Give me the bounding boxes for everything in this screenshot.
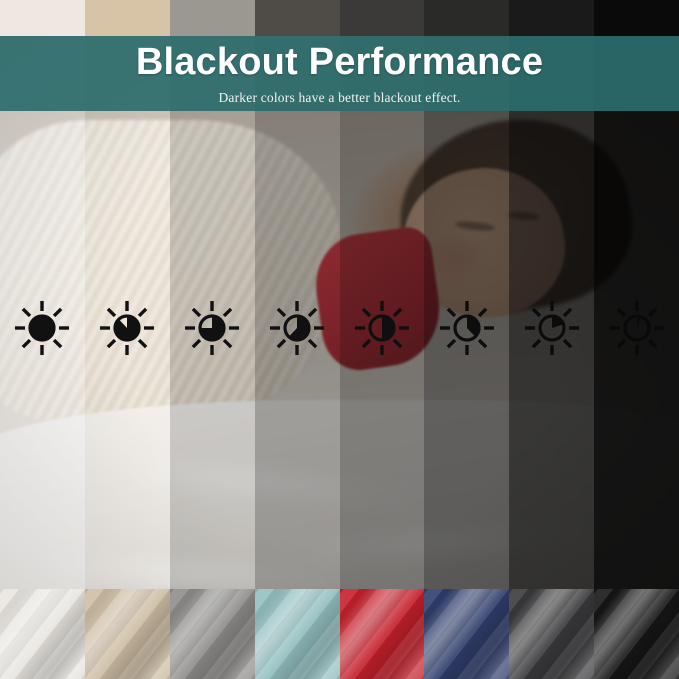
top-cap-black <box>594 0 679 36</box>
fabric-sheen <box>0 589 85 679</box>
fabric-sheen <box>594 589 679 679</box>
page-title: Blackout Performance <box>136 43 543 81</box>
top-cap-near-black <box>509 0 594 36</box>
brightness-icon-38 <box>424 288 509 368</box>
fabric-sheen <box>340 589 425 679</box>
brightness-icon-100 <box>0 288 85 368</box>
swatch-grey[interactable] <box>170 589 255 679</box>
swatch-navy[interactable] <box>424 589 509 679</box>
brightness-glyph <box>176 292 248 364</box>
brightness-glyph <box>431 292 503 364</box>
brightness-glyph <box>516 292 588 364</box>
swatch-dark-grey[interactable] <box>509 589 594 679</box>
top-cap-deep-grey <box>424 0 509 36</box>
top-cap-charcoal <box>255 0 340 36</box>
fabric-sheen <box>424 589 509 679</box>
brightness-glyph <box>346 292 418 364</box>
fabric-sheen <box>170 589 255 679</box>
fabric-sheen <box>255 589 340 679</box>
page-subtitle: Darker colors have a better blackout eff… <box>218 90 460 106</box>
swatch-white[interactable] <box>0 589 85 679</box>
brightness-glyph <box>91 292 163 364</box>
brightness-icon-75 <box>170 288 255 368</box>
brightness-icon-row <box>0 288 679 368</box>
brightness-glyph <box>601 292 673 364</box>
blackout-performance-infographic: Blackout Performance Darker colors have … <box>0 0 679 679</box>
swatch-black[interactable] <box>594 589 679 679</box>
header-band: Blackout Performance Darker colors have … <box>0 36 679 111</box>
brightness-glyph <box>261 292 333 364</box>
fabric-swatch-row <box>0 589 679 679</box>
swatch-red[interactable] <box>340 589 425 679</box>
swatch-beige[interactable] <box>85 589 170 679</box>
fabric-sheen <box>85 589 170 679</box>
top-cap-beige <box>85 0 170 36</box>
top-cap-white <box>0 0 85 36</box>
swatch-teal[interactable] <box>255 589 340 679</box>
top-cap-dark-grey <box>340 0 425 36</box>
brightness-icon-5 <box>594 288 679 368</box>
brightness-icon-50 <box>340 288 425 368</box>
brightness-glyph <box>6 292 78 364</box>
top-cap-light-grey <box>170 0 255 36</box>
brightness-icon-62 <box>255 288 340 368</box>
fabric-sheen <box>509 589 594 679</box>
brightness-icon-88 <box>85 288 170 368</box>
top-color-cap-row <box>0 0 679 36</box>
brightness-icon-20 <box>509 288 594 368</box>
